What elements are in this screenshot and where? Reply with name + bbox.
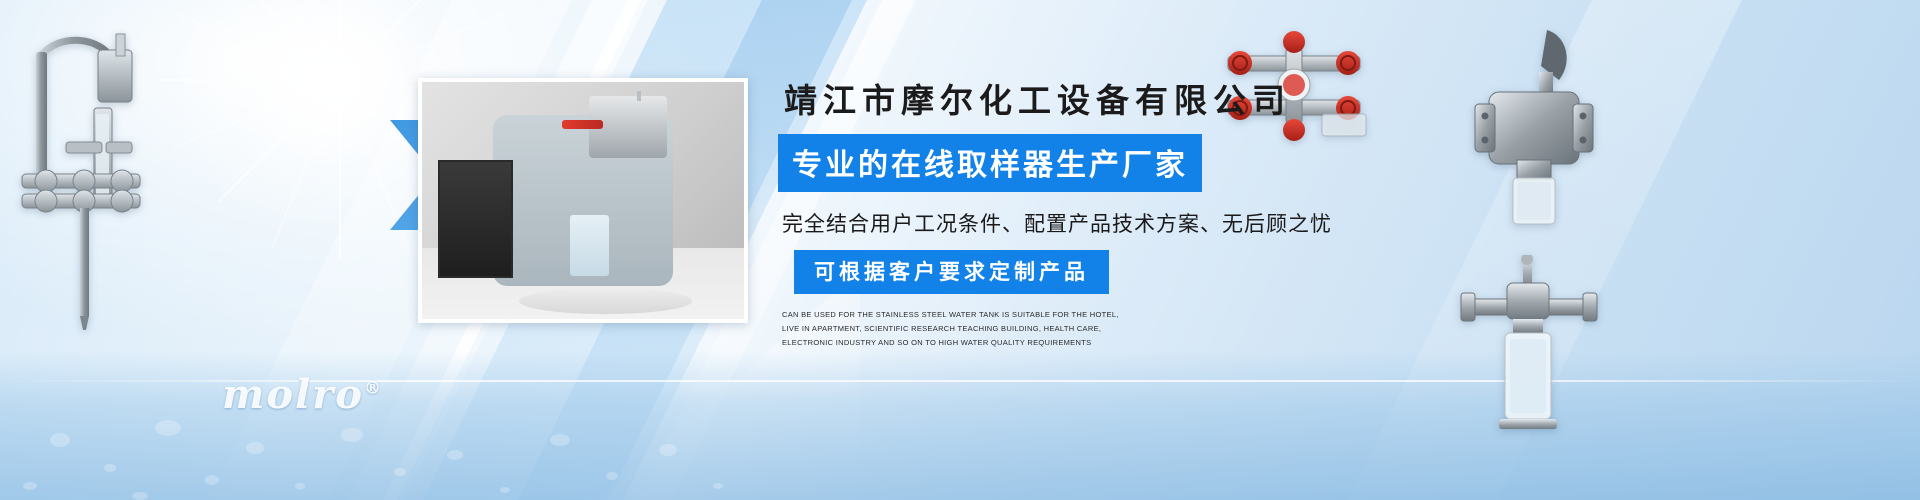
promo-banner: 靖江市摩尔化工设备有限公司 专业的在线取样器生产厂家 完全结合用户工况条件、配置… [0, 0, 1920, 500]
tagline-highlight: 专业的在线取样器生产厂家 [778, 134, 1202, 192]
banner-description: 完全结合用户工况条件、配置产品技术方案、无后顾之忧 [782, 208, 1398, 238]
horizontal-sampler-svg [1455, 255, 1605, 440]
left-sampler-svg [10, 22, 185, 332]
company-name: 靖江市摩尔化工设备有限公司 [784, 74, 1398, 122]
product-photo [418, 78, 748, 323]
english-subtext: CAN BE USED FOR THE STAINLESS STEEL WATE… [782, 308, 1134, 350]
banner-text-block: 靖江市摩尔化工设备有限公司 专业的在线取样器生产厂家 完全结合用户工况条件、配置… [778, 74, 1398, 350]
flange-valve-svg [1455, 22, 1605, 237]
product-photo-image [422, 82, 744, 319]
custom-product-pill: 可根据客户要求定制产品 [794, 250, 1109, 294]
left-sampler-machine [10, 22, 185, 337]
right-flange-valve [1455, 22, 1605, 242]
watermark-logo: molro® [222, 371, 383, 418]
registered-mark-icon: ® [364, 379, 383, 399]
watermark-logo-text: molro [222, 371, 364, 418]
right-horizontal-sampler [1455, 255, 1605, 445]
